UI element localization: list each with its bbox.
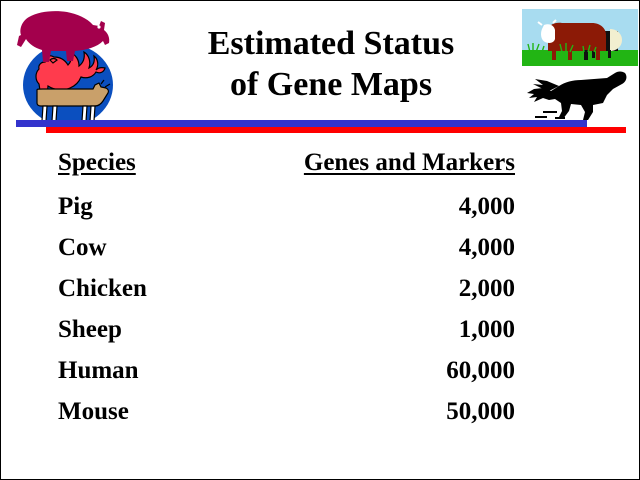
horse-svg bbox=[521, 67, 633, 123]
table-row: Pig 4,000 bbox=[1, 193, 639, 234]
title-line-1: Estimated Status bbox=[151, 23, 511, 64]
cell-species: Human bbox=[58, 357, 139, 385]
grass-foreground bbox=[522, 50, 638, 66]
cell-genes-and-markers: 2,000 bbox=[261, 275, 515, 303]
logo-svg bbox=[9, 5, 125, 127]
table-row: Cow 4,000 bbox=[1, 234, 639, 275]
title-line-2: of Gene Maps bbox=[151, 64, 511, 105]
divider-bar-blue bbox=[16, 120, 587, 127]
livestock-genome-logo bbox=[9, 5, 125, 127]
table-row: Chicken 2,000 bbox=[1, 275, 639, 316]
cell-genes-and-markers: 4,000 bbox=[261, 234, 515, 262]
divider-bar-red bbox=[46, 127, 626, 133]
cell-species: Mouse bbox=[58, 398, 129, 426]
cell-genes-and-markers: 4,000 bbox=[261, 193, 515, 221]
cell-species: Chicken bbox=[58, 275, 147, 303]
table-header-row: Species Genes and Markers bbox=[1, 149, 639, 193]
table-row: Sheep 1,000 bbox=[1, 316, 639, 357]
table-row: Mouse 50,000 bbox=[1, 398, 639, 439]
table-row: Human 60,000 bbox=[1, 357, 639, 398]
page-title: Estimated Status of Gene Maps bbox=[151, 23, 511, 105]
cell-genes-and-markers: 60,000 bbox=[261, 357, 515, 385]
cattle-photo-svg bbox=[522, 9, 638, 66]
column-header-species: Species bbox=[58, 149, 136, 177]
gene-map-table: Species Genes and Markers Pig 4,000 Cow … bbox=[1, 149, 639, 439]
cell-genes-and-markers: 50,000 bbox=[261, 398, 515, 426]
column-header-genes-and-markers: Genes and Markers bbox=[261, 149, 515, 177]
cattle-pasture-photo bbox=[522, 9, 638, 66]
galloping-horse-silhouette bbox=[521, 67, 633, 123]
cell-genes-and-markers: 1,000 bbox=[261, 316, 515, 344]
cell-species: Sheep bbox=[58, 316, 122, 344]
slide-canvas: Estimated Status of Gene Maps bbox=[0, 0, 640, 480]
cell-species: Pig bbox=[58, 193, 93, 221]
cell-species: Cow bbox=[58, 234, 107, 262]
